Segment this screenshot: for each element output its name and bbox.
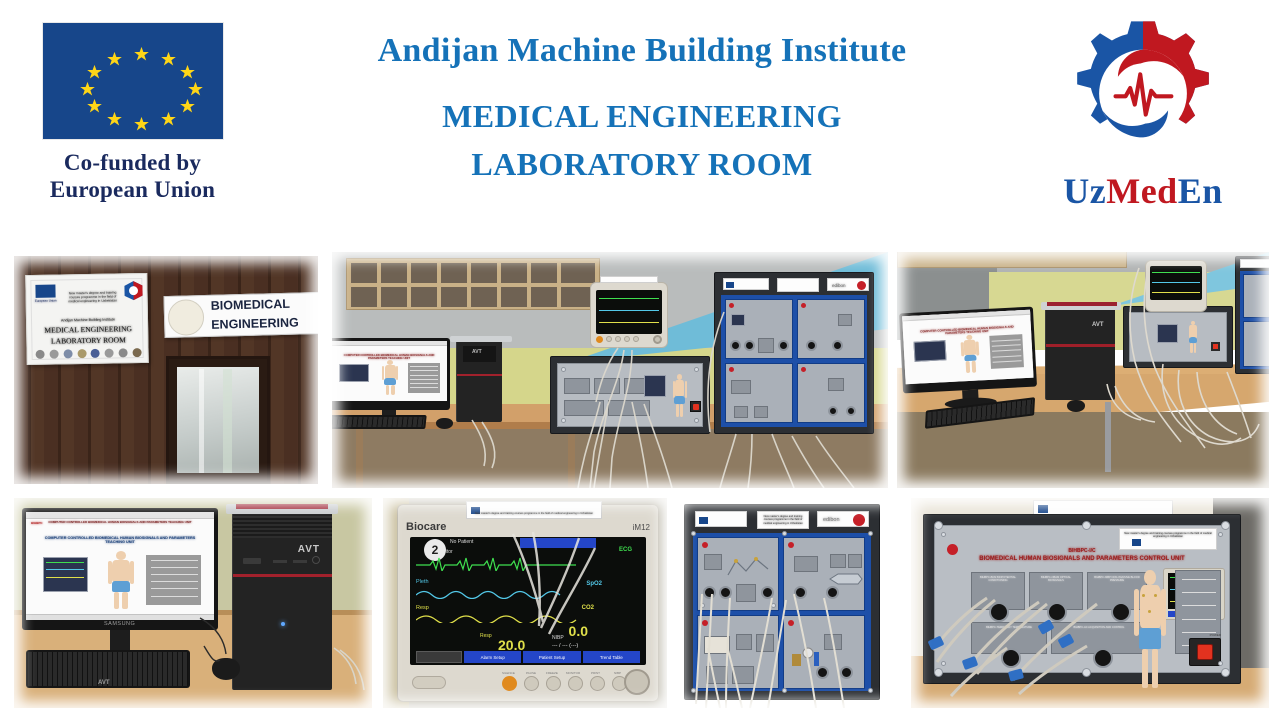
cable-bundle bbox=[911, 498, 1269, 708]
brand-word-en: En bbox=[1178, 171, 1223, 211]
laboratory-plaque: European Union UzMedEn New master's degr… bbox=[25, 273, 149, 365]
eu-caption-line2: European Union bbox=[20, 176, 245, 203]
plaque-line1: MEDICAL ENGINEERING bbox=[33, 324, 143, 335]
door-sign-line2: ENGINEERING bbox=[211, 315, 315, 333]
poster-titles: Andijan Machine Building Institute MEDIC… bbox=[272, 30, 1012, 188]
brand-word-uz: Uz bbox=[1063, 171, 1106, 211]
photo-lab-workbench-angled: BIHBPC COMPUTER CONTROLLED BIOMEDICAL HU… bbox=[897, 252, 1269, 488]
photo-laboratory-entrance: European Union UzMedEn New master's degr… bbox=[14, 256, 318, 484]
photo-control-unit: UzMedEn New master's degree and training… bbox=[911, 498, 1269, 708]
institute-title: Andijan Machine Building Institute bbox=[272, 30, 1012, 72]
photo-patient-monitor: UzMedEn New master's degree and training… bbox=[383, 498, 667, 708]
door-window-glass bbox=[177, 367, 259, 473]
cable-bundle bbox=[676, 498, 904, 708]
brand-word-med: Med bbox=[1106, 171, 1177, 211]
uzmeden-brand: UzMedEn bbox=[1018, 14, 1268, 212]
plaque-project-name: UzMedEn bbox=[66, 281, 118, 288]
biomedical-engineering-door-sign: BIOMEDICAL ENGINEERING bbox=[163, 292, 318, 338]
plaque-eu-flag-icon bbox=[35, 285, 55, 298]
plaque-partner-logos bbox=[35, 346, 141, 361]
cable-bundle bbox=[897, 252, 1269, 488]
european-union-flag bbox=[42, 22, 224, 140]
door-sign-line1: BIOMEDICAL bbox=[211, 296, 315, 314]
door-window-frame bbox=[166, 356, 270, 484]
photo-workstation: BIHBPC COMPUTER CONTROLLED BIOMEDICAL HU… bbox=[14, 498, 372, 708]
cable-bundle bbox=[332, 252, 888, 488]
page-subtitle: LABORATORY ROOM bbox=[272, 140, 1012, 188]
photo-trainer-panel: UzMedEn New master's degree and training… bbox=[676, 498, 904, 708]
page-title: MEDICAL ENGINEERING bbox=[272, 92, 1012, 140]
uzmeden-wordmark: UzMedEn bbox=[1018, 170, 1268, 212]
sign-seal-icon bbox=[168, 299, 205, 336]
photo-lab-workbench-wide: BIHBPC COMPUTER CONTROLLED BIOMEDICAL HU… bbox=[332, 252, 888, 488]
plaque-eu-caption: European Union bbox=[33, 298, 59, 302]
poster-page: Co-funded by European Union Andijan Mach… bbox=[0, 0, 1280, 720]
plaque-line2: LABORATORY ROOM bbox=[33, 335, 143, 346]
uzmeden-gear-ecg-logo bbox=[1050, 14, 1236, 174]
plaque-uzmeden-logo bbox=[123, 280, 143, 302]
eu-caption-line1: Co-funded by bbox=[20, 149, 245, 176]
plaque-project-sub: New master's degree and training courses… bbox=[65, 290, 121, 303]
cable-bundle bbox=[383, 498, 667, 708]
poster-header: Co-funded by European Union Andijan Mach… bbox=[0, 0, 1280, 240]
cable-bundle bbox=[14, 498, 372, 708]
eu-funding-block: Co-funded by European Union bbox=[20, 22, 245, 203]
eu-caption: Co-funded by European Union bbox=[20, 149, 245, 203]
